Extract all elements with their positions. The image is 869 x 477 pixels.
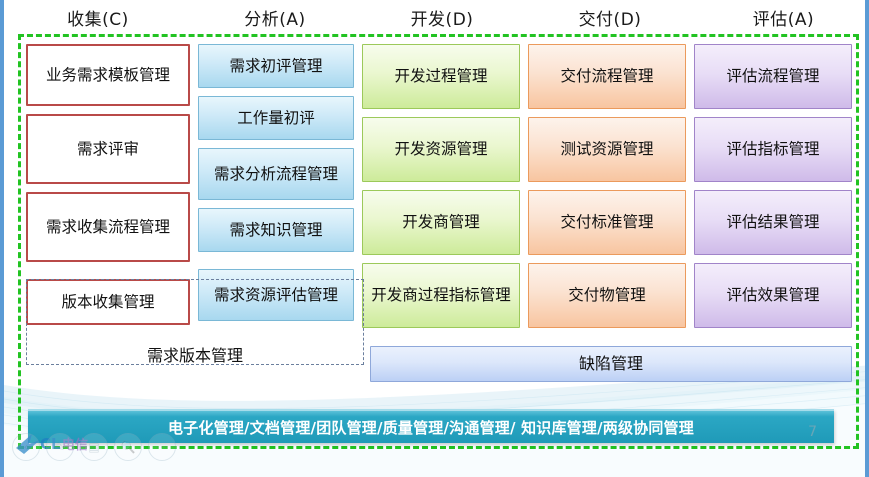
node-development-0[interactable]: 开发过程管理 (362, 44, 520, 109)
version-management-group-label: 需求版本管理 (26, 344, 364, 364)
node-collect-0[interactable]: 业务需求模板管理 (26, 44, 190, 106)
node-evaluation-1[interactable]: 评估指标管理 (694, 117, 852, 182)
node-analysis-1[interactable]: 工作量初评 (198, 96, 354, 140)
node-delivery-3[interactable]: 交付物管理 (528, 263, 686, 328)
phase-label-collect: 收集(C) (4, 0, 192, 34)
defect-management-row: 缺陷管理 (370, 346, 852, 382)
node-evaluation-0[interactable]: 评估流程管理 (694, 44, 852, 109)
node-delivery-2[interactable]: 交付标准管理 (528, 190, 686, 255)
node-analysis-0[interactable]: 需求初评管理 (198, 44, 354, 88)
node-evaluation-3[interactable]: 评估效果管理 (694, 263, 852, 328)
column-evaluation: 评估流程管理 评估指标管理 评估结果管理 评估效果管理 (694, 44, 852, 344)
page-number: 7 (808, 424, 817, 440)
phase-label-analysis: 分析(A) (192, 0, 358, 34)
node-delivery-1[interactable]: 测试资源管理 (528, 117, 686, 182)
phase-label-delivery: 交付(D) (526, 0, 694, 34)
phase-label-row: 收集(C) 分析(A) 开发(D) 交付(D) 评估(A) (4, 0, 869, 34)
presentation-icon[interactable]: ▤ (80, 433, 108, 461)
slide-canvas: 收集(C) 分析(A) 开发(D) 交付(D) 评估(A) 业务需求模板管理 需… (0, 0, 869, 477)
node-development-1[interactable]: 开发资源管理 (362, 117, 520, 182)
more-options-icon[interactable]: ⋯ (148, 433, 176, 461)
node-collect-2[interactable]: 需求收集流程管理 (26, 192, 190, 262)
previous-icon[interactable]: ‹ (12, 433, 40, 461)
zoom-icon[interactable]: 🔍 (114, 433, 142, 461)
node-analysis-3[interactable]: 需求知识管理 (198, 208, 354, 252)
presentation-toolbar[interactable]: ‹ ✎ ▤ 🔍 ⋯ (12, 430, 242, 464)
column-development: 开发过程管理 开发资源管理 开发商管理 开发商过程指标管理 (362, 44, 520, 344)
column-delivery: 交付流程管理 测试资源管理 交付标准管理 交付物管理 (528, 44, 686, 344)
pen-icon[interactable]: ✎ (46, 433, 74, 461)
node-collect-1[interactable]: 需求评审 (26, 114, 190, 184)
node-delivery-0[interactable]: 交付流程管理 (528, 44, 686, 109)
node-evaluation-2[interactable]: 评估结果管理 (694, 190, 852, 255)
node-development-2[interactable]: 开发商管理 (362, 190, 520, 255)
phase-label-development: 开发(D) (358, 0, 526, 34)
node-development-3[interactable]: 开发商过程指标管理 (362, 263, 520, 328)
node-analysis-2[interactable]: 需求分析流程管理 (198, 148, 354, 200)
node-defect-management[interactable]: 缺陷管理 (370, 346, 852, 382)
phase-label-evaluation: 评估(A) (694, 0, 869, 34)
